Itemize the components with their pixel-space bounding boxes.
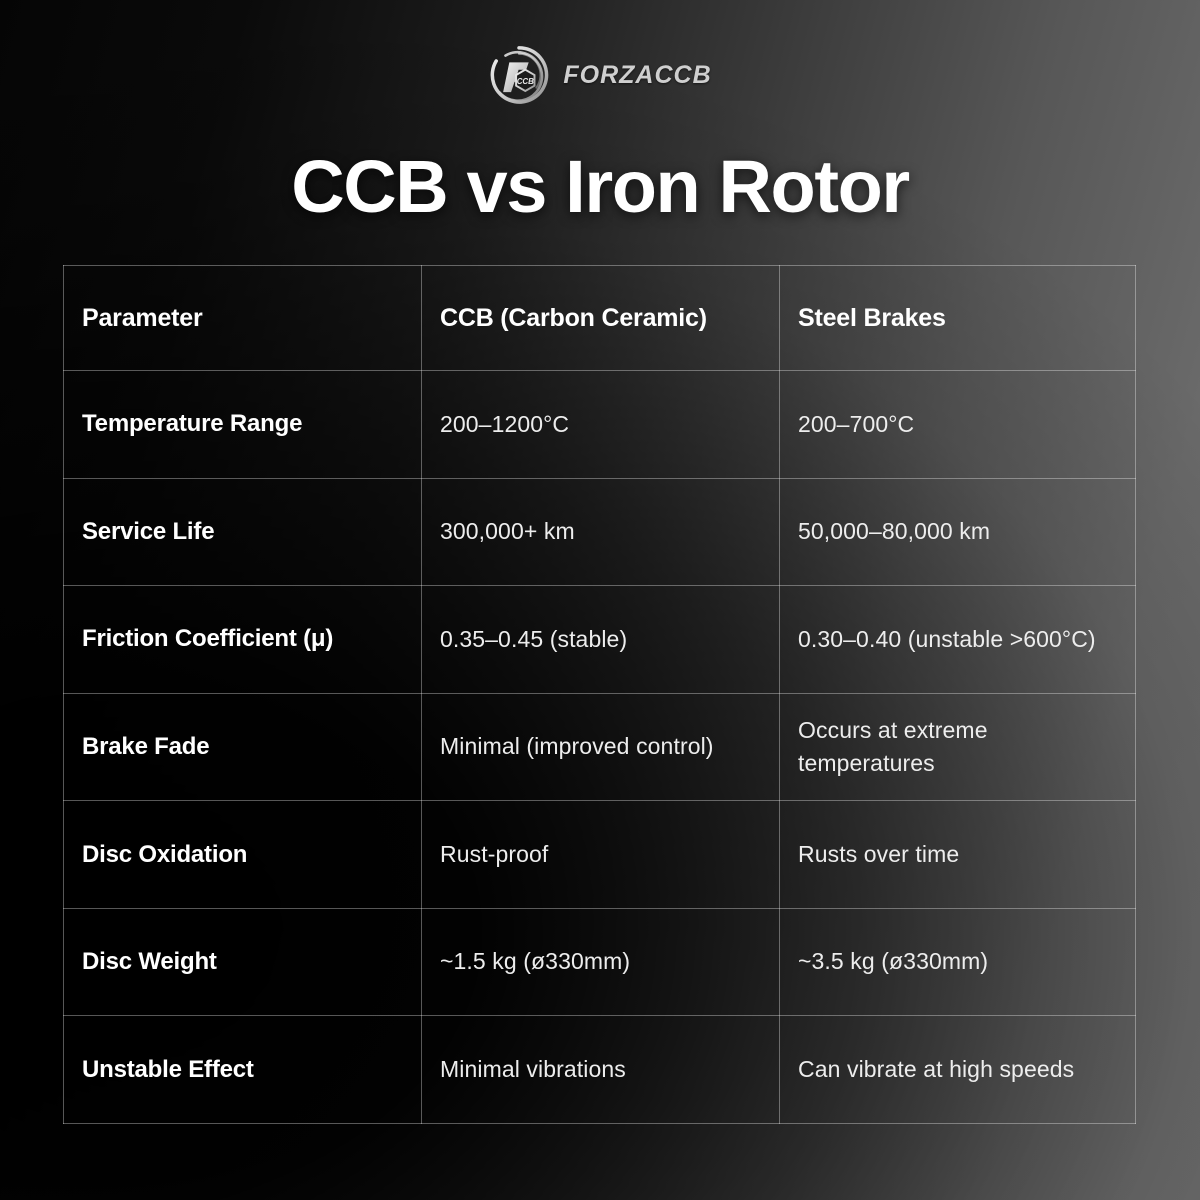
table-row: Unstable Effect Minimal vibrations Can v… — [64, 1016, 1136, 1124]
row-value-ccb: Rust-proof — [422, 801, 780, 909]
row-parameter-label: Friction Coefficient (μ) — [64, 586, 422, 694]
column-header-steel: Steel Brakes — [780, 266, 1136, 371]
column-header-parameter: Parameter — [64, 266, 422, 371]
row-value-steel: Rusts over time — [780, 801, 1136, 909]
row-value-ccb: 0.35–0.45 (stable) — [422, 586, 780, 694]
svg-text:CCB: CCB — [517, 77, 534, 86]
row-value-steel: 0.30–0.40 (unstable >600°C) — [780, 586, 1136, 694]
row-value-steel: Occurs at extreme temperatures — [780, 693, 1136, 801]
table-row: Disc Oxidation Rust-proof Rusts over tim… — [64, 801, 1136, 909]
row-parameter-label: Disc Weight — [64, 908, 422, 1016]
table-row: Friction Coefficient (μ) 0.35–0.45 (stab… — [64, 586, 1136, 694]
row-value-ccb: 200–1200°C — [422, 371, 780, 479]
poster-canvas: CCB FORZACCB CCB vs Iron Rotor Parameter… — [0, 0, 1200, 1200]
table-header: Parameter CCB (Carbon Ceramic) Steel Bra… — [64, 266, 1136, 371]
row-parameter-label: Disc Oxidation — [64, 801, 422, 909]
row-parameter-label: Brake Fade — [64, 693, 422, 801]
forzaccb-logo-icon: CCB — [488, 44, 550, 106]
row-value-ccb: ~1.5 kg (ø330mm) — [422, 908, 780, 1016]
row-parameter-label: Temperature Range — [64, 371, 422, 479]
row-parameter-label: Service Life — [64, 478, 422, 586]
row-value-ccb: Minimal (improved control) — [422, 693, 780, 801]
brand-header: CCB FORZACCB — [0, 44, 1200, 106]
row-value-steel: 50,000–80,000 km — [780, 478, 1136, 586]
column-header-ccb: CCB (Carbon Ceramic) — [422, 266, 780, 371]
table-header-row: Parameter CCB (Carbon Ceramic) Steel Bra… — [64, 266, 1136, 371]
table-row: Temperature Range 200–1200°C 200–700°C — [64, 371, 1136, 479]
table-row: Service Life 300,000+ km 50,000–80,000 k… — [64, 478, 1136, 586]
table-body: Temperature Range 200–1200°C 200–700°C S… — [64, 371, 1136, 1124]
table-row: Brake Fade Minimal (improved control) Oc… — [64, 693, 1136, 801]
row-parameter-label: Unstable Effect — [64, 1016, 422, 1124]
row-value-ccb: Minimal vibrations — [422, 1016, 780, 1124]
comparison-table: Parameter CCB (Carbon Ceramic) Steel Bra… — [63, 265, 1136, 1124]
row-value-steel: Can vibrate at high speeds — [780, 1016, 1136, 1124]
row-value-steel: ~3.5 kg (ø330mm) — [780, 908, 1136, 1016]
row-value-steel: 200–700°C — [780, 371, 1136, 479]
table-row: Disc Weight ~1.5 kg (ø330mm) ~3.5 kg (ø3… — [64, 908, 1136, 1016]
brand-wordmark: FORZACCB — [563, 63, 711, 88]
page-title: CCB vs Iron Rotor — [0, 150, 1200, 224]
row-value-ccb: 300,000+ km — [422, 478, 780, 586]
